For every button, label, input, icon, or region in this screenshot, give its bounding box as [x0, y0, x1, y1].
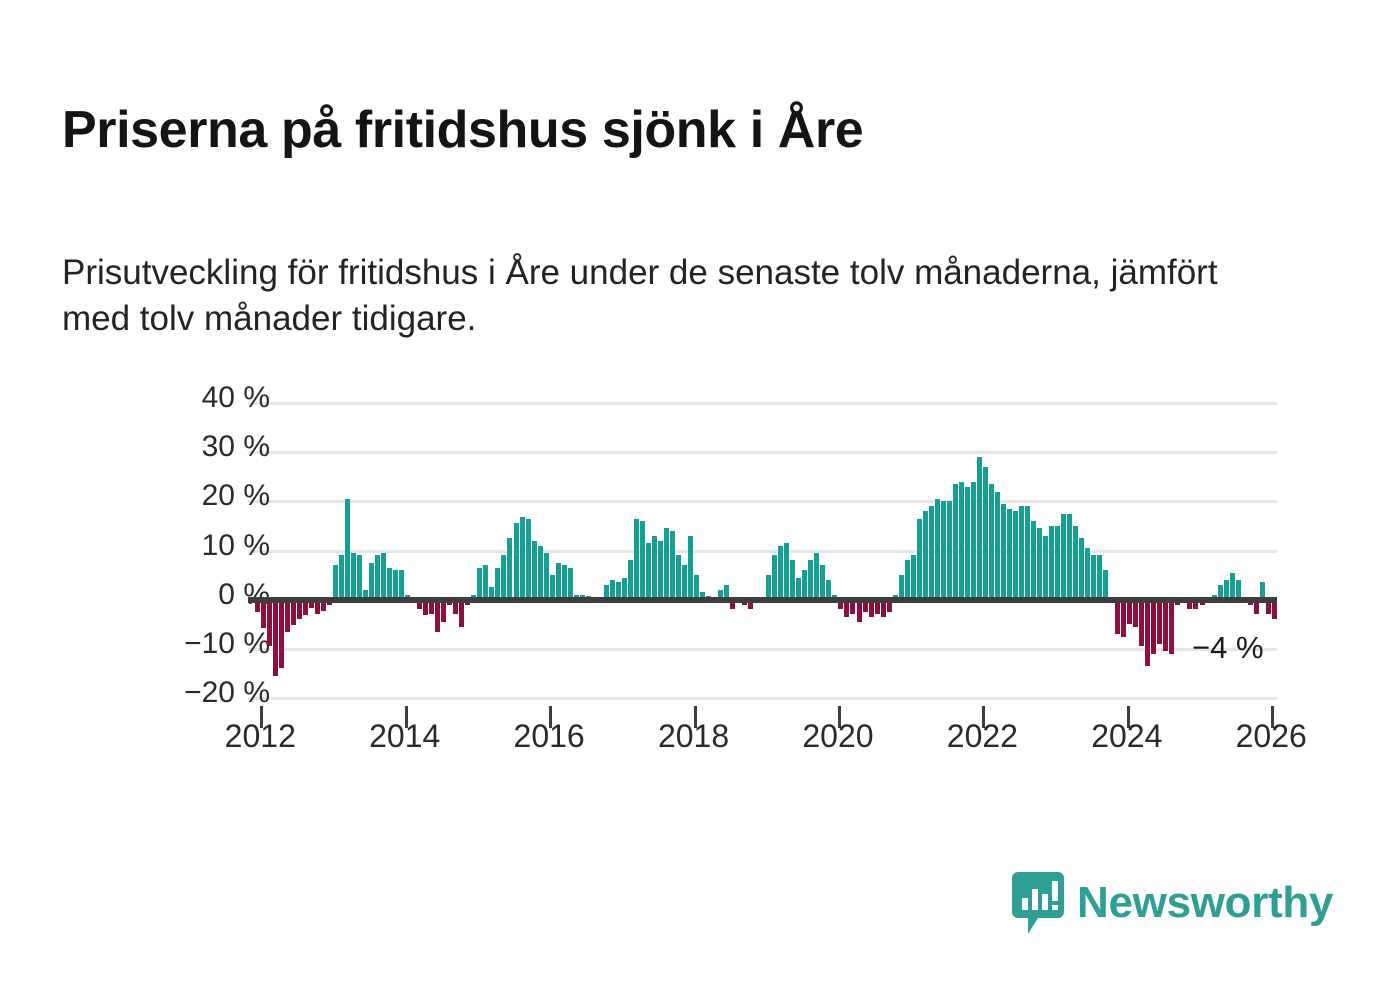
bar	[989, 484, 994, 600]
bar	[814, 553, 819, 600]
bar	[267, 600, 272, 647]
bar	[1067, 514, 1072, 600]
bar	[1019, 506, 1024, 599]
bar	[285, 600, 290, 632]
bar	[477, 568, 482, 600]
bar	[514, 523, 519, 599]
bar	[1037, 528, 1042, 599]
bar	[1151, 600, 1156, 654]
bar	[965, 487, 970, 600]
bar	[971, 482, 976, 600]
x-axis-tick-label: 2014	[335, 718, 475, 755]
bar	[959, 482, 964, 600]
bar-chart: −4 % 40 %30 %20 %10 %0 %−10 %−20 %201220…	[0, 0, 1382, 999]
bar	[640, 521, 645, 600]
bar	[520, 517, 525, 600]
bar	[1145, 600, 1150, 666]
bar	[345, 499, 350, 600]
bar	[399, 570, 404, 600]
bar	[688, 536, 693, 600]
x-axis-tick-label: 2016	[479, 718, 619, 755]
bar	[261, 600, 266, 629]
bar	[435, 600, 440, 632]
bar	[682, 565, 687, 599]
bar	[483, 565, 488, 599]
bar	[1091, 555, 1096, 599]
bar	[369, 563, 374, 600]
bar	[628, 560, 633, 599]
bar	[1115, 600, 1120, 634]
bar	[1103, 570, 1108, 600]
bar	[664, 528, 669, 599]
bar	[532, 541, 537, 600]
bar	[676, 555, 681, 599]
bar	[1055, 526, 1060, 600]
bar	[947, 501, 952, 599]
bar	[772, 555, 777, 599]
plot-area	[248, 403, 1277, 698]
bar	[1049, 526, 1054, 600]
bar	[351, 553, 356, 600]
bar	[1169, 600, 1174, 654]
bar	[393, 570, 398, 600]
bar	[1127, 600, 1132, 625]
bar	[1139, 600, 1144, 647]
newsworthy-logo: Newsworthy	[1012, 872, 1333, 934]
bar	[784, 543, 789, 600]
bar	[808, 560, 813, 599]
zero-axis-line	[248, 597, 1277, 603]
bar	[544, 553, 549, 600]
x-axis-tick-label: 2012	[190, 718, 330, 755]
bar	[1007, 509, 1012, 600]
bar	[670, 531, 675, 600]
chart-page: Priserna på fritidshus sjönk i Åre Prisu…	[0, 0, 1382, 999]
bar	[1013, 511, 1018, 600]
bar	[917, 519, 922, 600]
bar	[339, 555, 344, 599]
bar	[1157, 600, 1162, 644]
bar	[1133, 600, 1138, 627]
bar	[820, 565, 825, 599]
bar	[538, 546, 543, 600]
bar	[357, 555, 362, 599]
bar	[291, 600, 296, 626]
bar	[953, 484, 958, 600]
x-axis-tick-label: 2018	[624, 718, 764, 755]
bar	[501, 555, 506, 599]
x-axis-tick-label: 2020	[768, 718, 908, 755]
bar	[556, 563, 561, 600]
bar	[911, 555, 916, 599]
bar	[905, 560, 910, 599]
bar	[1061, 514, 1066, 600]
bar	[562, 565, 567, 599]
bar	[333, 565, 338, 599]
bar	[995, 492, 1000, 600]
bar	[375, 555, 380, 599]
bar-series	[248, 403, 1277, 698]
bar	[983, 467, 988, 600]
bar	[857, 600, 862, 622]
bar	[652, 536, 657, 600]
bar	[977, 457, 982, 600]
bar	[634, 519, 639, 600]
bar	[526, 519, 531, 600]
last-value-annotation: −4 %	[1192, 630, 1264, 666]
bar	[778, 546, 783, 600]
bar	[1073, 526, 1078, 600]
bar	[381, 553, 386, 600]
bar	[1121, 600, 1126, 637]
bar	[658, 541, 663, 600]
bar	[459, 600, 464, 627]
bar	[1163, 600, 1168, 652]
bar	[929, 506, 934, 599]
bar	[495, 568, 500, 600]
logo-wordmark: Newsworthy	[1077, 881, 1333, 925]
bar	[646, 543, 651, 600]
bar	[507, 538, 512, 599]
bar	[273, 600, 278, 676]
x-axis-tick-label: 2026	[1201, 718, 1341, 755]
bar	[1043, 536, 1048, 600]
bar	[1085, 548, 1090, 600]
bar	[923, 511, 928, 600]
bar	[935, 499, 940, 600]
bar	[387, 568, 392, 600]
bar	[279, 600, 284, 669]
bar	[941, 501, 946, 599]
bar	[441, 600, 446, 622]
bar	[1025, 506, 1030, 599]
bar	[802, 570, 807, 600]
bar	[568, 568, 573, 600]
bar-chart-speech-bubble-icon	[1012, 872, 1064, 934]
bar	[1031, 521, 1036, 600]
bar	[1079, 538, 1084, 599]
bar	[1230, 573, 1235, 600]
x-axis-tick-label: 2022	[912, 718, 1052, 755]
x-axis-tick-label: 2024	[1057, 718, 1197, 755]
bar	[1097, 555, 1102, 599]
bar	[1001, 504, 1006, 600]
bar	[790, 560, 795, 599]
